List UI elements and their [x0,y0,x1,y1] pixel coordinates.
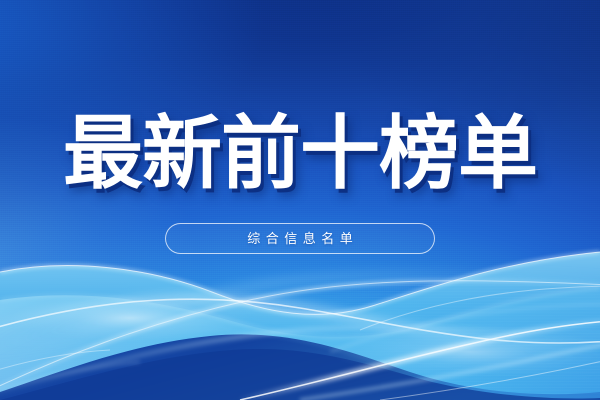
promo-banner: 最新前十榜单 综合信息名单 [0,0,600,400]
subtitle-badge: 综合信息名单 [165,223,435,254]
banner-headline: 最新前十榜单 [0,112,600,196]
banner-text-block: 最新前十榜单 综合信息名单 [0,0,600,270]
subtitle-label: 综合信息名单 [242,232,359,245]
